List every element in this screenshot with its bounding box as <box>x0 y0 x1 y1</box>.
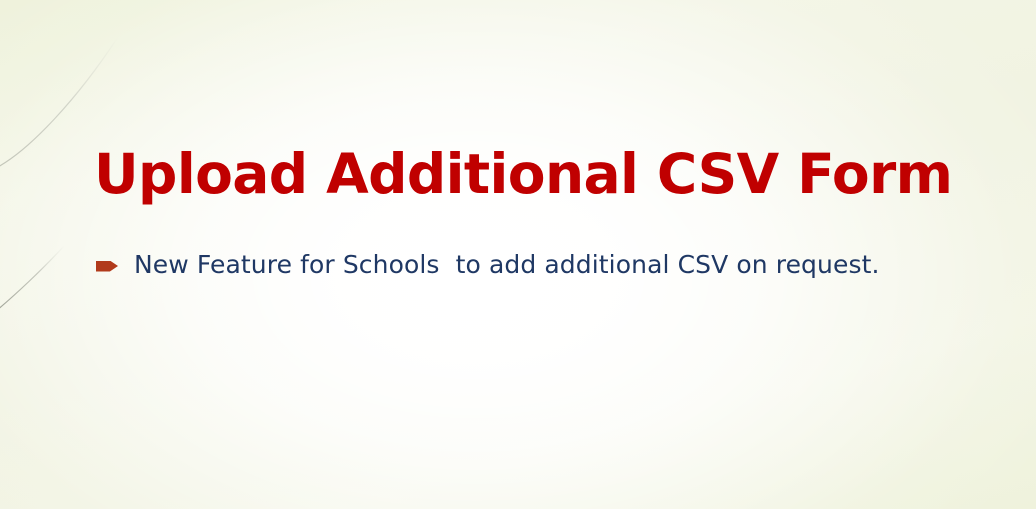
body-content: New Feature for Schools to add additiona… <box>94 248 994 282</box>
pennant-arrow-bullet-icon <box>94 255 134 277</box>
list-item: New Feature for Schools to add additiona… <box>94 248 994 282</box>
lower-diagonal-arc <box>0 246 64 311</box>
title-block: Upload Additional CSV Form <box>94 142 954 214</box>
page-title: Upload Additional CSV Form <box>94 142 954 206</box>
bullet-text: New Feature for Schools to add additiona… <box>134 248 880 282</box>
slide-canvas: Upload Additional CSV Form New Feature f… <box>0 0 1036 509</box>
